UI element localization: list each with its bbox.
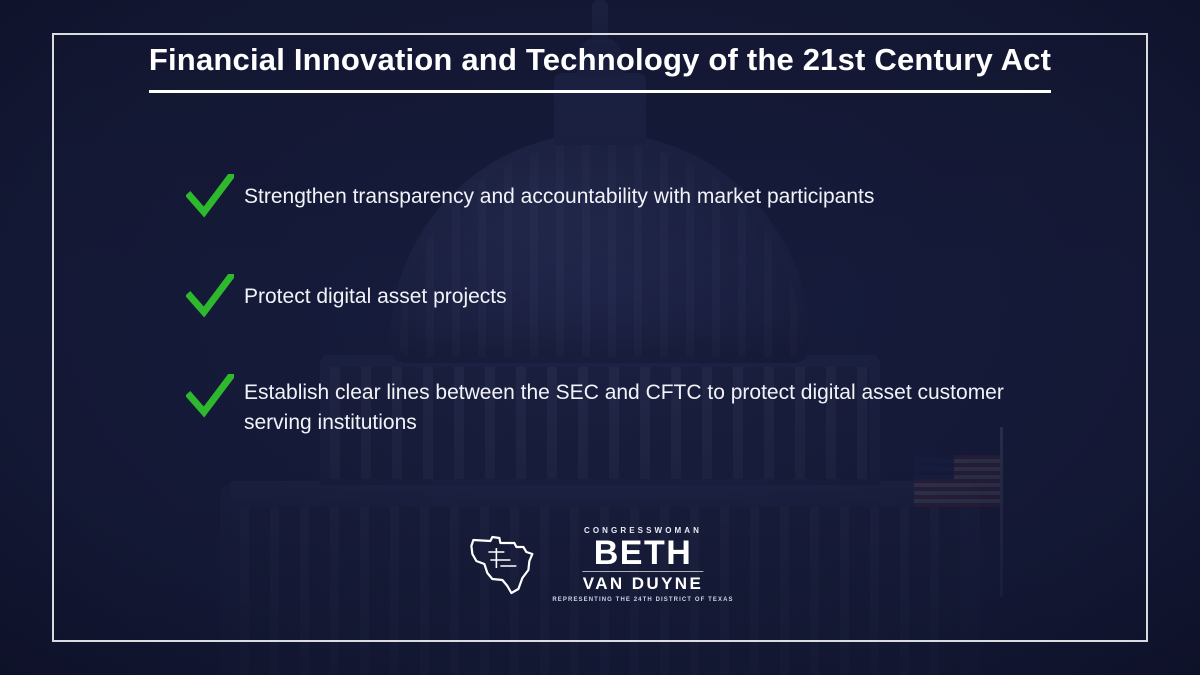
bullet-list: Strengthen transparency and accountabili… xyxy=(186,178,1066,438)
bullet-text: Strengthen transparency and accountabili… xyxy=(244,178,874,212)
bullet-text: Establish clear lines between the SEC an… xyxy=(244,378,1044,438)
texas-state-outline-icon xyxy=(466,534,540,596)
slide-title: Financial Innovation and Technology of t… xyxy=(149,42,1051,93)
check-icon xyxy=(186,174,234,220)
presentation-slide: Financial Innovation and Technology of t… xyxy=(0,0,1200,675)
bullet-item: Strengthen transparency and accountabili… xyxy=(186,178,1066,220)
logo-text-lockup: CONGRESSWOMAN BETH VAN DUYNE REPRESENTIN… xyxy=(552,527,733,603)
congresswoman-logo: CONGRESSWOMAN BETH VAN DUYNE REPRESENTIN… xyxy=(466,527,733,603)
check-icon xyxy=(186,374,234,420)
bullet-item: Establish clear lines between the SEC an… xyxy=(186,378,1066,438)
bullet-text: Protect digital asset projects xyxy=(244,278,507,312)
logo-last-name: VAN DUYNE xyxy=(583,571,703,592)
check-icon xyxy=(186,274,234,320)
logo-first-name: BETH xyxy=(594,538,693,569)
title-block: Financial Innovation and Technology of t… xyxy=(0,42,1200,93)
logo-subtitle: REPRESENTING THE 24TH DISTRICT OF TEXAS xyxy=(552,597,733,603)
bullet-item: Protect digital asset projects xyxy=(186,278,1066,320)
